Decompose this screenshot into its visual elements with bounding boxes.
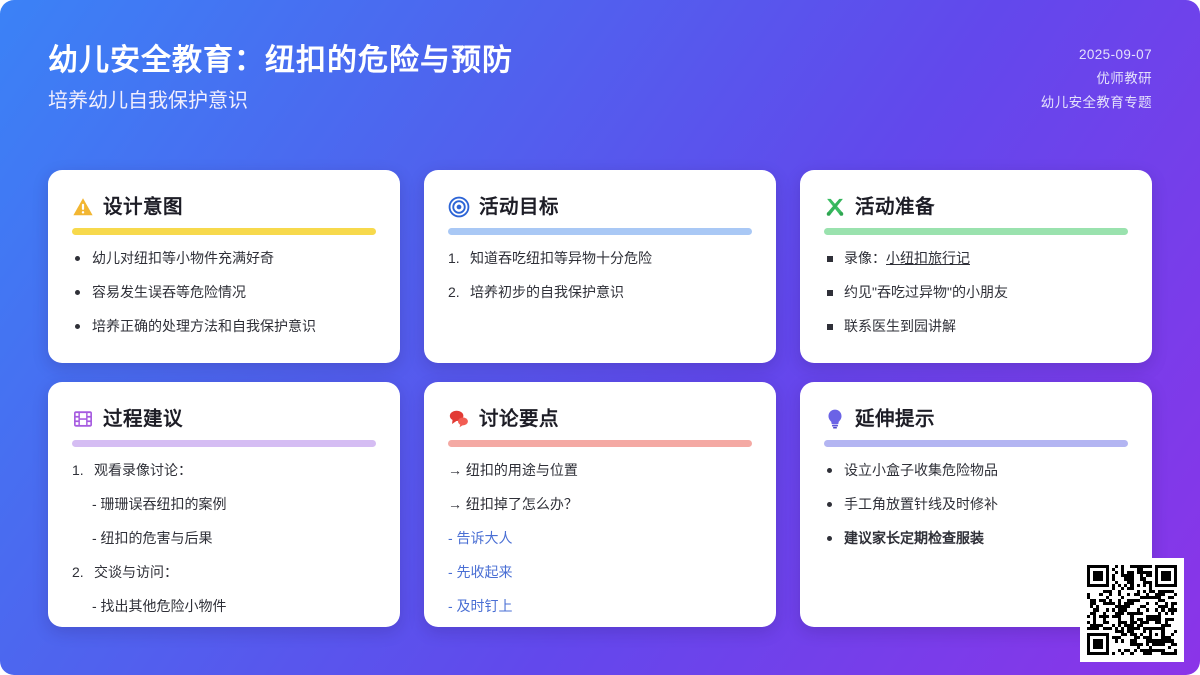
lightbulb-icon <box>824 408 846 430</box>
qr-code <box>1087 565 1177 655</box>
list-item-text: 建议家长定期检查服装 <box>844 530 984 546</box>
card-header: 过程建议 <box>72 404 376 434</box>
card-accent-rule <box>448 228 752 235</box>
answer-item: - 及时钉上 <box>448 597 752 616</box>
card-title: 讨论要点 <box>479 405 559 433</box>
answer-item: - 先收起来 <box>448 563 752 582</box>
list-item: 设立小盒子收集危险物品 <box>824 461 1128 480</box>
qr-code-panel <box>1080 558 1184 662</box>
target-icon <box>448 196 470 218</box>
list-marker: 1. <box>72 461 84 480</box>
arrow-item: → 纽扣掉了怎么办？ <box>448 495 752 514</box>
list-item: 录像：小纽扣旅行记 <box>824 249 1128 268</box>
card-discussion-points: 讨论要点→ 纽扣的用途与位置→ 纽扣掉了怎么办？- 告诉大人- 先收起来- 及时… <box>424 382 776 627</box>
numbered-item-text: 交谈与访问： <box>94 564 178 580</box>
film-icon <box>72 408 94 430</box>
meta-organization: 优师教研 <box>1096 68 1152 89</box>
answer-item: - 告诉大人 <box>448 529 752 548</box>
list-item: 建议家长定期检查服装 <box>824 529 1128 548</box>
card-list: 录像：小纽扣旅行记约见"吞吃过异物"的小朋友联系医生到园讲解 <box>824 249 1128 336</box>
card-accent-rule <box>448 440 752 447</box>
card-title: 设计意图 <box>103 193 183 221</box>
card-header: 活动准备 <box>824 192 1128 222</box>
numbered-item: 2.交谈与访问： <box>72 563 376 582</box>
sub-item: - 找出其他危险小物件 <box>72 597 376 616</box>
list-item-text: 手工角放置针线及时修补 <box>844 496 998 512</box>
card-process-suggestions: 过程建议1.观看录像讨论：- 珊珊误吞纽扣的案例- 纽扣的危害与后果2.交谈与访… <box>48 382 400 627</box>
video-link[interactable]: 小纽扣旅行记 <box>886 250 970 266</box>
numbered-item-text: 观看录像讨论： <box>94 462 192 478</box>
list-item-text: 约见"吞吃过异物"的小朋友 <box>844 284 1008 300</box>
list-item: 容易发生误吞等危险情况 <box>72 283 376 302</box>
list-item-text: 录像： <box>844 250 886 266</box>
speech-bubbles-icon <box>448 408 470 430</box>
page-title: 幼儿安全教育：纽扣的危险与预防 <box>48 40 513 82</box>
list-item: 培养正确的处理方法和自我保护意识 <box>72 317 376 336</box>
list-item-text: 幼儿对纽扣等小物件充满好奇 <box>92 250 274 266</box>
card-list: 设立小盒子收集危险物品手工角放置针线及时修补建议家长定期检查服装 <box>824 461 1128 548</box>
arrow-item: → 纽扣的用途与位置 <box>448 461 752 480</box>
list-item: 幼儿对纽扣等小物件充满好奇 <box>72 249 376 268</box>
slide-header: 幼儿安全教育：纽扣的危险与预防 培养幼儿自我保护意识 2025-09-07 优师… <box>0 0 1200 150</box>
list-item-text: 容易发生误吞等危险情况 <box>92 284 246 300</box>
list-item-text: 设立小盒子收集危险物品 <box>844 462 998 478</box>
card-body: 录像：小纽扣旅行记约见"吞吃过异物"的小朋友联系医生到园讲解 <box>824 249 1128 336</box>
numbered-item: 1.观看录像讨论： <box>72 461 376 480</box>
list-item: 手工角放置针线及时修补 <box>824 495 1128 514</box>
card-body: 设立小盒子收集危险物品手工角放置针线及时修补建议家长定期检查服装 <box>824 461 1128 548</box>
numbered-item-text: 知道吞吃纽扣等异物十分危险 <box>470 250 652 266</box>
list-item-text: 联系医生到园讲解 <box>844 318 956 334</box>
card-accent-rule <box>72 228 376 235</box>
list-marker: 2. <box>72 563 84 582</box>
list-item: 约见"吞吃过异物"的小朋友 <box>824 283 1128 302</box>
card-header: 活动目标 <box>448 192 752 222</box>
sub-item: - 纽扣的危害与后果 <box>72 529 376 548</box>
list-marker: 2. <box>448 283 460 302</box>
card-accent-rule <box>72 440 376 447</box>
card-body: 1.观看录像讨论：- 珊珊误吞纽扣的案例- 纽扣的危害与后果2.交谈与访问：- … <box>72 461 376 616</box>
slide-canvas: 幼儿安全教育：纽扣的危险与预防 培养幼儿自我保护意识 2025-09-07 优师… <box>0 0 1200 675</box>
tools-icon <box>824 196 846 218</box>
page-subtitle: 培养幼儿自我保护意识 <box>48 84 513 118</box>
sub-item: - 珊珊误吞纽扣的案例 <box>72 495 376 514</box>
header-meta-block: 2025-09-07 优师教研 幼儿安全教育专题 <box>1041 40 1152 113</box>
card-header: 设计意图 <box>72 192 376 222</box>
card-body: 1.知道吞吃纽扣等异物十分危险2.培养初步的自我保护意识 <box>448 249 752 302</box>
card-title: 延伸提示 <box>855 405 935 433</box>
card-accent-rule <box>824 440 1128 447</box>
card-header: 延伸提示 <box>824 404 1128 434</box>
card-header: 讨论要点 <box>448 404 752 434</box>
list-item-text: 培养正确的处理方法和自我保护意识 <box>92 318 316 334</box>
list-marker: 1. <box>448 249 460 268</box>
numbered-item: 1.知道吞吃纽扣等异物十分危险 <box>448 249 752 268</box>
card-activity-goals: 活动目标1.知道吞吃纽扣等异物十分危险2.培养初步的自我保护意识 <box>424 170 776 363</box>
card-activity-prep: 活动准备录像：小纽扣旅行记约见"吞吃过异物"的小朋友联系医生到园讲解 <box>800 170 1152 363</box>
meta-topic: 幼儿安全教育专题 <box>1041 92 1152 113</box>
card-body: → 纽扣的用途与位置→ 纽扣掉了怎么办？- 告诉大人- 先收起来- 及时钉上 <box>448 461 752 616</box>
numbered-item-text: 培养初步的自我保护意识 <box>470 284 624 300</box>
card-body: 幼儿对纽扣等小物件充满好奇容易发生误吞等危险情况培养正确的处理方法和自我保护意识 <box>72 249 376 336</box>
list-item: 联系医生到园讲解 <box>824 317 1128 336</box>
meta-date: 2025-09-07 <box>1079 44 1152 65</box>
card-title: 过程建议 <box>103 405 183 433</box>
card-title: 活动准备 <box>855 193 935 221</box>
card-accent-rule <box>824 228 1128 235</box>
card-grid: 设计意图幼儿对纽扣等小物件充满好奇容易发生误吞等危险情况培养正确的处理方法和自我… <box>48 170 1152 627</box>
card-title: 活动目标 <box>479 193 559 221</box>
warning-icon <box>72 196 94 218</box>
card-list: 幼儿对纽扣等小物件充满好奇容易发生误吞等危险情况培养正确的处理方法和自我保护意识 <box>72 249 376 336</box>
card-design-intent: 设计意图幼儿对纽扣等小物件充满好奇容易发生误吞等危险情况培养正确的处理方法和自我… <box>48 170 400 363</box>
numbered-item: 2.培养初步的自我保护意识 <box>448 283 752 302</box>
header-title-block: 幼儿安全教育：纽扣的危险与预防 培养幼儿自我保护意识 <box>48 40 513 118</box>
